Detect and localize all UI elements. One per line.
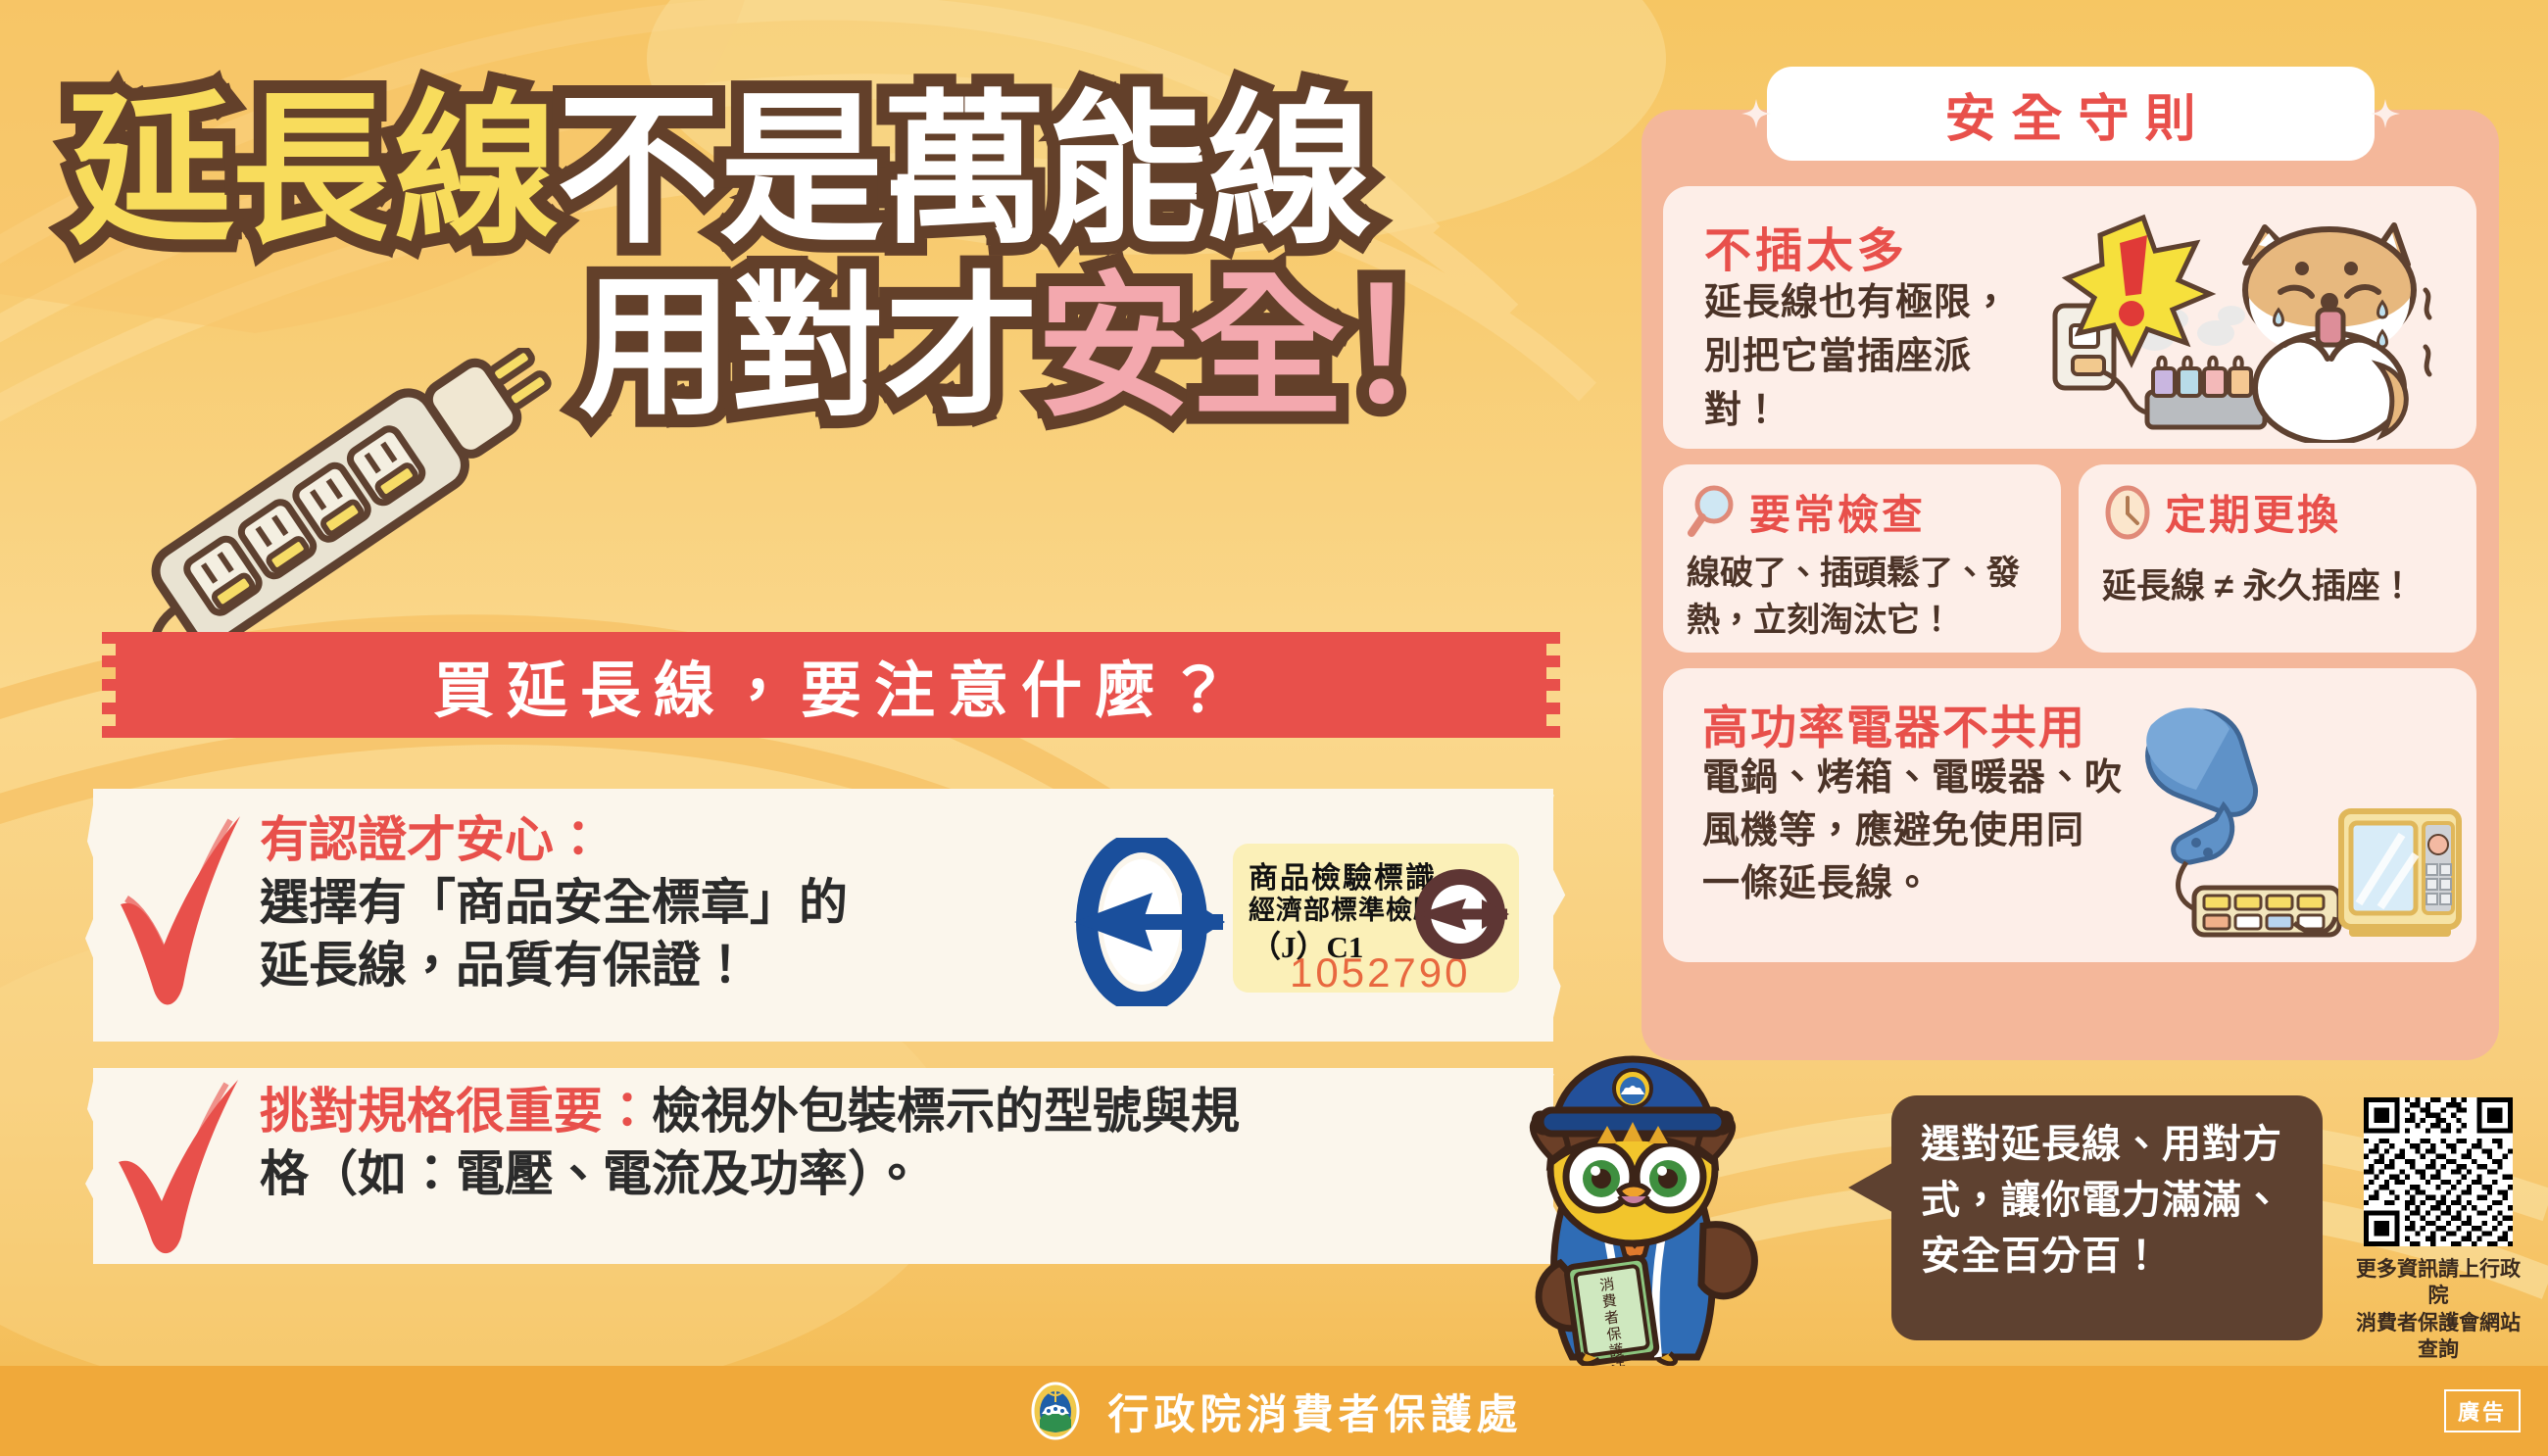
question-banner: 買延長線，要注意什麼？	[116, 632, 1546, 738]
headline-char-glyph: 能	[1045, 88, 1207, 253]
speech-bubble-tail	[1848, 1160, 1897, 1215]
rule-body-line-2: 熱，立刻淘汰它！	[1687, 602, 1953, 639]
qr-code[interactable]	[2364, 1097, 2513, 1246]
headline-char: 全全	[1190, 270, 1343, 425]
rule-card-high-power: 高功率電器不共用 電鍋、烤箱、電暖器、吹 風機等，應避免使用同 一條延長線。	[1663, 668, 2476, 962]
rule-title-no-overload: 不插太多	[1704, 212, 1908, 280]
rule-body-line-3: 對！	[1704, 390, 1781, 431]
rule-body-line-1: 延長線也有極限，	[1704, 282, 2010, 323]
rule-body-no-overload: 延長線也有極限， 別把它當插座派 對！	[1704, 276, 2047, 438]
check-mark-icon	[93, 1068, 260, 1264]
closing-speech-bubble: 選對延長線、用對方 式，讓你電力滿滿、 安全百分百！	[1891, 1095, 2323, 1340]
headline-char: 延延	[69, 88, 231, 253]
certification-marks: 商品檢驗標識 經濟部標準檢驗局 （J）C1 1052790	[1058, 838, 1548, 1014]
headline-char: 線線	[1207, 88, 1370, 253]
rule-body-line-2: 別把它當插座派	[1704, 336, 1972, 377]
headline-char: 是是	[719, 88, 882, 253]
hairdryer-icon	[2139, 696, 2463, 948]
rule-body-line-2: 風機等，應避免使用同	[1702, 810, 2084, 851]
bubble-line-3: 安全百分百！	[1921, 1235, 2162, 1278]
rule-body-line-3: 一條延長線。	[1702, 863, 1932, 904]
inspection-label: 商品檢驗標識 經濟部標準檢驗局 （J）C1 1052790	[1233, 844, 1519, 993]
magnifier-icon	[1687, 484, 1738, 541]
headline-line-1: 延延長長線線不不是是萬萬能能線線	[69, 88, 1558, 253]
qr-caption-line-1: 更多資訊請上行政院	[2356, 1258, 2521, 1307]
rule-title-replace: 定期更換	[2165, 482, 2341, 542]
cpc-logo-icon	[1025, 1381, 1086, 1441]
headline-char-glyph: 延	[69, 88, 231, 253]
rule-title-row-replace: 定期更換	[2102, 482, 2341, 542]
rule-body-inspect: 線破了、插頭鬆了、發 熱，立刻淘汰它！	[1687, 551, 2049, 644]
headline-char: ！！	[1343, 270, 1495, 425]
footer-bar: 行政院消費者保護處 廣告	[0, 1366, 2548, 1456]
headline-char: 安安	[1037, 270, 1190, 425]
headline-char: 對對	[731, 270, 884, 425]
shocked-cat-icon	[2049, 200, 2461, 443]
rule-card-inspect: 要常檢查 線破了、插頭鬆了、發 熱，立刻淘汰它！	[1663, 464, 2061, 653]
headline-char-glyph: 不	[557, 88, 719, 253]
headline-char: 不不	[557, 88, 719, 253]
rule-body-line-1: 電鍋、烤箱、電暖器、吹	[1702, 757, 2123, 799]
cns-mark-blue-icon	[1058, 838, 1225, 1006]
headline-char-glyph: ！	[1343, 270, 1495, 425]
tip-text-specification-line-1: 挑對規格很重要：檢視外包裝標示的型號與規	[260, 1080, 1553, 1142]
rule-card-no-overload: 不插太多 延長線也有極限， 別把它當插座派 對！	[1663, 186, 2476, 449]
poster-root: 延延長長線線不不是是萬萬能能線線 用用對對才才安安全全！！	[0, 0, 2548, 1456]
qr-block: 更多資訊請上行政院 消費者保護會網站查詢	[2350, 1097, 2526, 1342]
panel-title: 安全守則	[1929, 77, 2211, 151]
headline-char-glyph: 全	[1190, 270, 1343, 425]
tip-row-specification: 挑對規格很重要：檢視外包裝標示的型號與規 格（如：電壓、電流及功率）。	[93, 1068, 1553, 1264]
banner-text: 買延長線，要注意什麼？	[420, 641, 1242, 729]
footer-inner: 行政院消費者保護處	[1025, 1381, 1522, 1441]
headline-char-glyph: 長	[231, 88, 394, 253]
headline-char: 萬萬	[882, 88, 1045, 253]
bubble-line-2: 式，讓你電力滿滿、	[1921, 1179, 2282, 1222]
rule-body-high-power: 電鍋、烤箱、電暖器、吹 風機等，應避免使用同 一條延長線。	[1702, 752, 2124, 911]
qr-caption: 更多資訊請上行政院 消費者保護會網站查詢	[2350, 1256, 2526, 1363]
clock-icon	[2102, 484, 2153, 541]
headline-char-glyph: 是	[719, 88, 882, 253]
rule-title-inspect: 要常檢查	[1749, 482, 1926, 542]
safety-rules-panel: 安全守則 不插太多 延長線也有極限， 別把它當插座派 對！	[1641, 110, 2499, 1060]
qr-caption-line-2: 消費者保護會網站查詢	[2356, 1312, 2521, 1361]
tip-text-specification-line-2: 格（如：電壓、電流及功率）。	[260, 1142, 1553, 1205]
left-column: 延延長長線線不不是是萬萬能能線線 用用對對才才安安全全！！	[0, 0, 1617, 1367]
rule-title-row-inspect: 要常檢查	[1687, 482, 1926, 542]
headline-char-glyph: 安	[1037, 270, 1190, 425]
headline-char-glyph: 才	[884, 270, 1037, 425]
headline-char: 能能	[1045, 88, 1207, 253]
headline-char: 線線	[394, 88, 557, 253]
rule-body-line-1: 線破了、插頭鬆了、發	[1687, 555, 2020, 592]
cns-mark-brown-icon	[1409, 863, 1511, 965]
headline-char: 長長	[231, 88, 394, 253]
tip-row-specification-body: 挑對規格很重要：檢視外包裝標示的型號與規 格（如：電壓、電流及功率）。	[260, 1068, 1553, 1205]
headline-char-glyph: 線	[394, 88, 557, 253]
speech-bubble-text: 選對延長線、用對方 式，讓你電力滿滿、 安全百分百！	[1921, 1117, 2295, 1284]
sparkle-left-icon	[1741, 99, 1771, 128]
headline-char: 才才	[884, 270, 1037, 425]
check-mark-icon	[93, 789, 260, 1039]
ad-badge: 廣告	[2444, 1389, 2521, 1432]
tip-text-specification-rest: 檢視外包裝標示的型號與規	[652, 1084, 1240, 1139]
owl-mascot: 消費者保護法	[1470, 1053, 1793, 1367]
rule-card-replace: 定期更換 延長線 ≠ 永久插座！	[2079, 464, 2476, 653]
footer-org-name: 行政院消費者保護處	[1107, 1382, 1522, 1441]
headline-char-glyph: 對	[731, 270, 884, 425]
sparkle-right-icon	[2371, 99, 2400, 128]
headline-char-glyph: 萬	[882, 88, 1045, 253]
rule-body-replace: 延長線 ≠ 永久插座！	[2102, 562, 2469, 610]
headline-char-glyph: 線	[1207, 88, 1370, 253]
rule-title-high-power: 高功率電器不共用	[1702, 690, 2086, 757]
tip-heading-specification: 挑對規格很重要：	[260, 1084, 652, 1139]
power-strip-illustration	[54, 348, 603, 671]
panel-title-chip: 安全守則	[1767, 67, 2375, 161]
bubble-line-1: 選對延長線、用對方	[1921, 1123, 2282, 1166]
